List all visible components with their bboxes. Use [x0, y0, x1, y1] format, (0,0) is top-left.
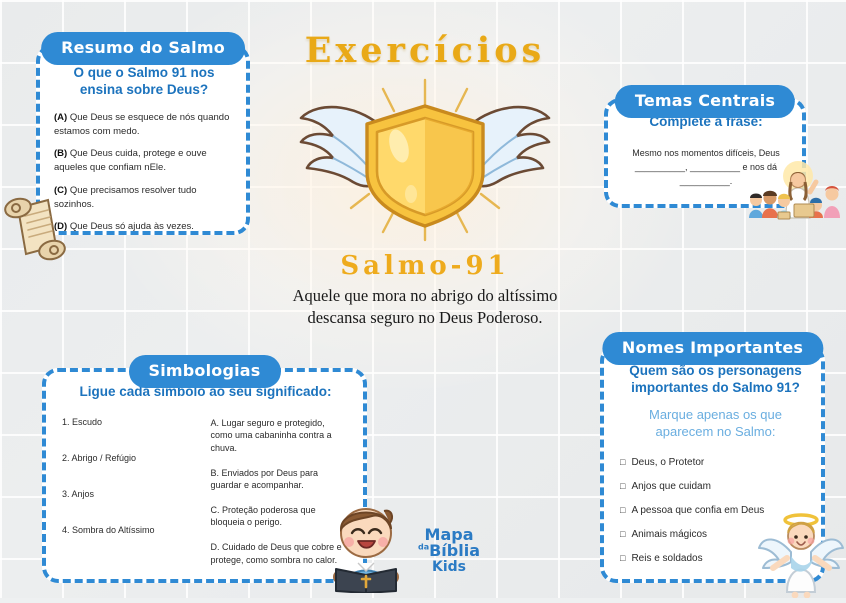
page-subtitle: Salmo-91	[255, 251, 595, 281]
symbol-item-4[interactable]: 4. Sombra do Altíssimo	[62, 525, 201, 535]
answer-option-c[interactable]: (C) Que precisamos resolver tudo sozinho…	[54, 184, 234, 212]
checkbox-label-1: Deus, o Protetor	[631, 457, 704, 468]
scroll-icon	[2, 190, 68, 267]
checkbox-label-2: Anjos que cuidam	[631, 481, 711, 492]
worksheet-background: Exercícios	[0, 0, 846, 598]
checkbox-icon[interactable]: □	[620, 553, 625, 563]
checkbox-row-2[interactable]: □ Anjos que cuidam	[620, 481, 811, 492]
option-letter-b: (B)	[54, 148, 67, 159]
option-text-c: Que precisamos resolver tudo sozinhos.	[54, 185, 197, 210]
logo-biblia: Bíblia	[429, 541, 480, 560]
verse-line-2: descansa seguro no Deus Poderoso.	[255, 307, 595, 329]
hero-section: Exercícios	[255, 30, 595, 330]
angel-icon	[757, 506, 845, 603]
panel-simbologias: Simbologias Ligue cada símbolo ao seu si…	[42, 368, 367, 583]
symbol-item-1[interactable]: 1. Escudo	[62, 417, 201, 427]
option-text-a: Que Deus se esquece de nós quando estamo…	[54, 112, 229, 137]
page-title: Exercícios	[255, 30, 595, 71]
logo-line-3: Kids	[414, 560, 484, 574]
meaning-item-a[interactable]: A. Lugar seguro e protegido, como uma ca…	[211, 417, 350, 455]
option-text-d: Que Deus só ajuda às vezes.	[70, 221, 194, 232]
checkbox-label-3: A pessoa que confia em Deus	[631, 505, 764, 516]
logo-line-2: daBíblia	[414, 543, 484, 559]
option-text-b: Que Deus cuida, protege e ouve aqueles q…	[54, 148, 207, 173]
boy-reading-bible-icon	[322, 497, 410, 598]
nomes-question: Quem são os personagens importantes do S…	[620, 363, 811, 397]
nomes-subtitle: Marque apenas os que aparecem no Salmo:	[620, 407, 811, 441]
checkbox-icon[interactable]: □	[620, 529, 625, 539]
checkbox-icon[interactable]: □	[620, 505, 625, 515]
panel-resumo-do-salmo: Resumo do Salmo O que o Salmo 91 nos ens…	[36, 45, 250, 235]
symbol-item-3[interactable]: 3. Anjos	[62, 489, 201, 499]
option-letter-a: (A)	[54, 112, 67, 123]
panel-title-simbologias: Simbologias	[128, 355, 280, 388]
checkbox-icon[interactable]: □	[620, 481, 625, 491]
answer-option-b[interactable]: (B) Que Deus cuida, protege e ouve aquel…	[54, 147, 234, 175]
verse-line-1: Aquele que mora no abrigo do altíssimo	[255, 285, 595, 307]
jesus-with-children-icon	[742, 160, 846, 227]
answer-option-a[interactable]: (A) Que Deus se esquece de nós quando es…	[54, 111, 234, 139]
panel-title-resumo: Resumo do Salmo	[41, 32, 245, 65]
symbols-column: 1. Escudo 2. Abrigo / Refúgio 3. Anjos 4…	[62, 417, 201, 578]
checkbox-label-4: Animais mágicos	[631, 529, 707, 540]
checkbox-icon[interactable]: □	[620, 457, 625, 467]
answer-option-d[interactable]: (D) Que Deus só ajuda às vezes.	[54, 220, 234, 234]
bible-verse: Aquele que mora no abrigo do altíssimo d…	[255, 285, 595, 330]
meaning-item-b[interactable]: B. Enviados por Deus para guardar e acom…	[211, 467, 350, 492]
logo-prefix: da	[418, 543, 429, 552]
checkbox-label-5: Reis e soldados	[631, 553, 702, 564]
brand-logo: Mapa daBíblia Kids	[414, 527, 484, 574]
fill-line-1: Mesmo nos momentos difíceis, Deus	[620, 147, 792, 161]
checkbox-row-1[interactable]: □ Deus, o Protetor	[620, 457, 811, 468]
panel-title-nomes: Nomes Importantes	[602, 332, 823, 365]
winged-shield-icon	[255, 71, 595, 249]
resumo-question: O que o Salmo 91 nos ensina sobre Deus?	[54, 65, 234, 99]
panel-title-temas: Temas Centrais	[615, 85, 795, 118]
symbol-item-2[interactable]: 2. Abrigo / Refúgio	[62, 453, 201, 463]
